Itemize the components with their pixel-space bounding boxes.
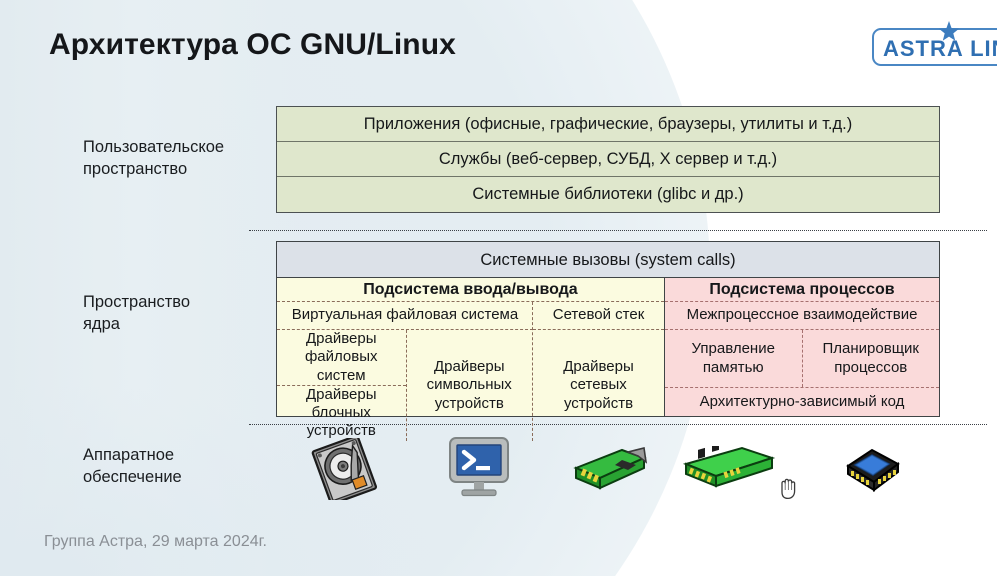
background-left-gradient [0,0,300,576]
system-calls-bar: Системные вызовы (system calls) [277,242,939,278]
network-stack-cell: Сетевой стек [533,302,664,330]
divider-user-kernel [249,230,987,231]
virtual-file-system-cell: Виртуальная файловая система [277,302,533,330]
user-space-label: Пользовательское пространство [83,136,224,181]
kernel-columns: Подсистема ввода/вывода Виртуальная файл… [277,278,939,416]
user-space-block: Приложения (офисные, графические, браузе… [276,106,940,213]
io-left-column: Виртуальная файловая система Драйверы фа… [277,302,533,441]
char-drivers-cell: Драйверы символьных устройств [407,330,533,441]
network-card-icon [566,446,648,494]
user-space-row-applications: Приложения (офисные, графические, браузе… [277,107,939,142]
net-drivers-cell: Драйверы сетевых устройств [533,330,664,441]
io-subsystem: Подсистема ввода/вывода Виртуальная файл… [277,278,665,416]
process-subsystem-title: Подсистема процессов [665,278,939,302]
star-icon [936,19,962,45]
process-subsystem-grid: Межпроцессное взаимодействие Управление … [665,302,939,416]
cpu-chip-icon [842,444,904,494]
hard-disk-icon [306,438,382,500]
ram-module-icon [680,446,776,494]
page-title: Архитектура ОС GNU/Linux [49,28,456,62]
io-network-column: Сетевой стек Драйверы сетевых устройств [533,302,664,441]
astra-linux-logo: ASTRA LIN [872,28,997,66]
io-subsystem-grid: Виртуальная файловая система Драйверы фа… [277,302,664,441]
process-subsystem: Подсистема процессов Межпроцессное взаим… [665,278,939,416]
ipc-cell: Межпроцессное взаимодействие [665,302,939,330]
io-char-drivers-column: Драйверы символьных устройств [407,330,533,441]
fs-drivers-cell: Драйверы файловых систем [277,330,406,386]
user-space-row-services: Службы (веб-сервер, СУБД, X сервер и т.д… [277,142,939,177]
hardware-icons-row [276,432,940,504]
terminal-monitor-icon [446,436,512,498]
kernel-space-label: Пространство ядра [83,291,190,336]
memory-management-cell: Управление памятью [665,330,803,387]
arch-dependent-code-cell: Архитектурно-зависимый код [665,388,939,416]
kernel-space-block: Системные вызовы (system calls) Подсисте… [276,241,940,417]
slide-canvas: Архитектура ОС GNU/Linux ASTRA LIN Польз… [0,0,997,576]
user-space-row-system-libraries: Системные библиотеки (glibc и др.) [277,177,939,212]
hardware-label: Аппаратное обеспечение [83,444,182,489]
process-mid-row: Управление памятью Планировщик процессов [665,330,939,388]
io-driver-row: Драйверы файловых систем Драйверы блочны… [277,330,532,441]
scheduler-cell: Планировщик процессов [803,330,940,387]
io-fs-drivers-column: Драйверы файловых систем Драйверы блочны… [277,330,407,441]
footer-text: Группа Астра, 29 марта 2024г. [44,533,267,551]
io-subsystem-title: Подсистема ввода/вывода [277,278,664,302]
